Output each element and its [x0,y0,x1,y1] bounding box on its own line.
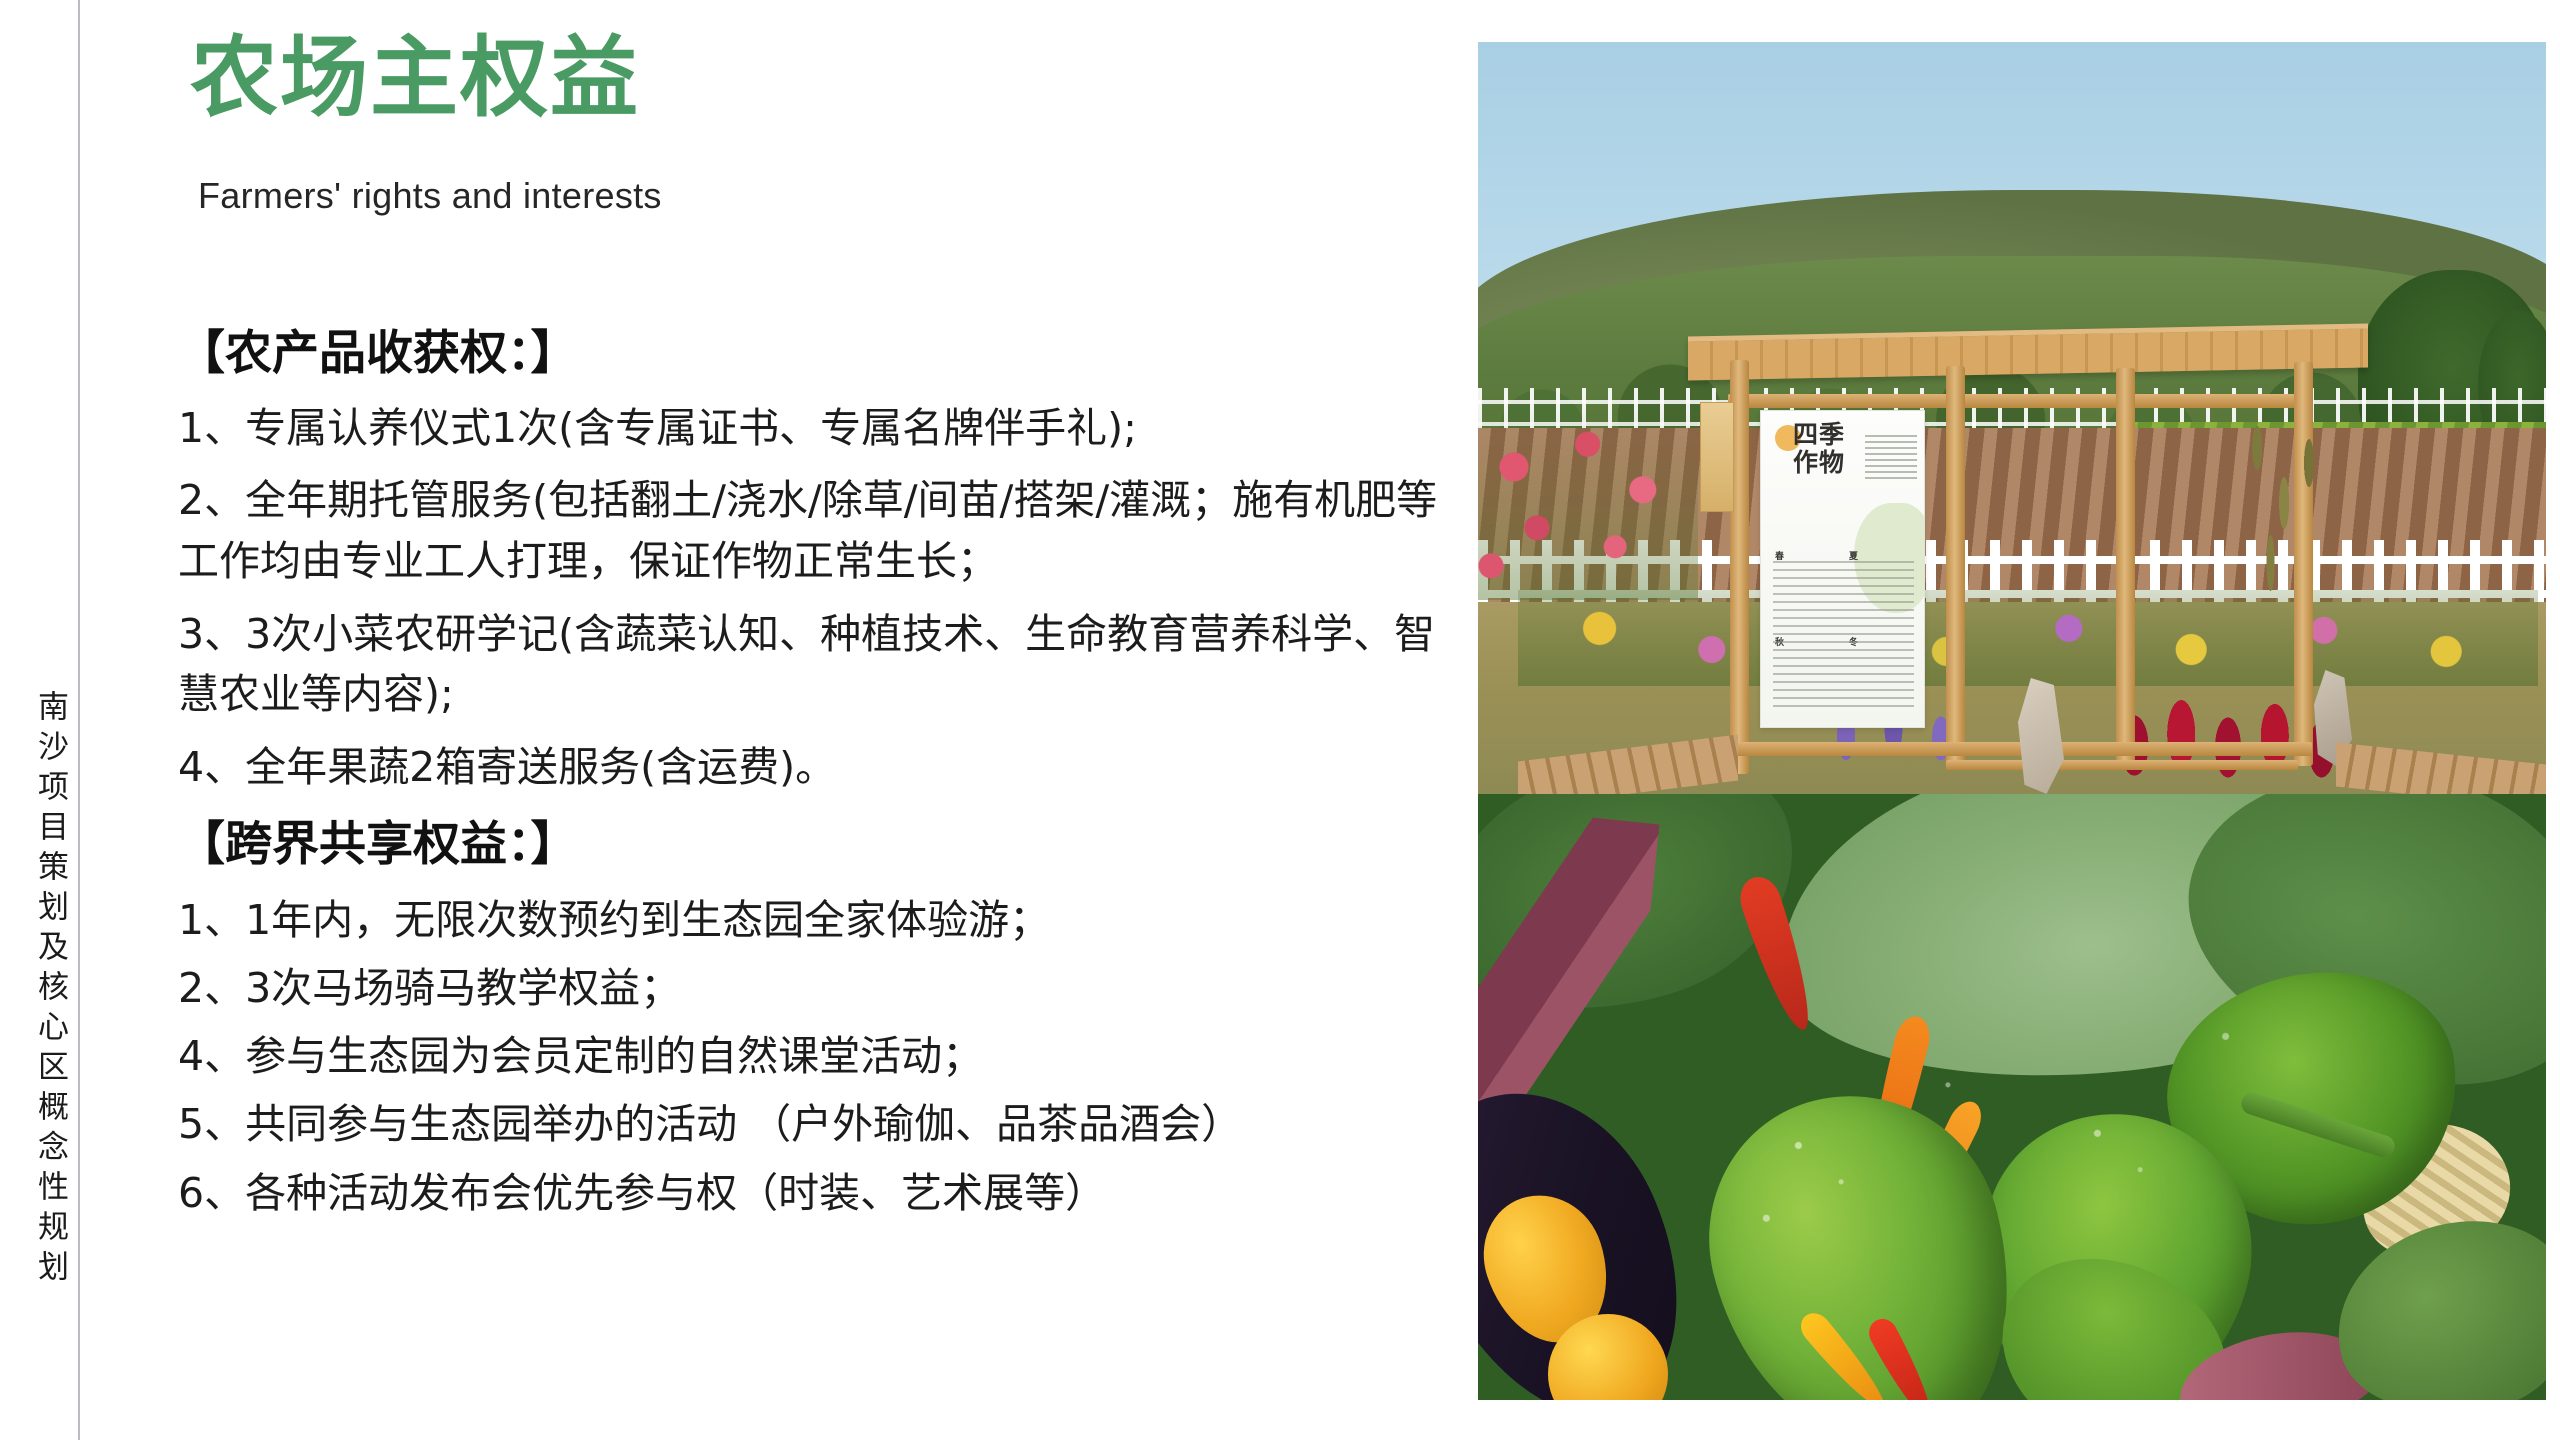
section-heading-harvest-rights: 【农产品收获权：】 [178,325,1438,384]
list-item: 4、全年果蔬2箱寄送服务(含运费)。 [178,737,1438,798]
harvest-rights-list: 1、专属认养仪式1次(含专属证书、专属名牌伴手礼); 2、全年期托管服务(包括翻… [178,398,1438,798]
photo-farm-pergola: 四季作物 春 夏 秋 冬 [1478,42,2546,794]
pergola-post [1946,366,1965,770]
signboard-crop-table [1773,561,1914,711]
list-item: 1、专属认养仪式1次(含专属证书、专属名牌伴手礼); [178,398,1438,459]
left-sidebar-rail: 南沙项目策划及核心区概念性规划 [0,0,79,1440]
list-item: 2、全年期托管服务(包括翻土/浇水/除草/间苗/搭架/灌溉；施有机肥等工作均由专… [178,470,1438,591]
pergola-beam [1946,760,2298,770]
slide-root: 南沙项目策划及核心区概念性规划 农场主权益 Farmers' rights an… [0,0,2560,1440]
sidebar-vertical-label: 南沙项目策划及核心区概念性规划 [14,690,66,1290]
photo-fresh-vegetables [1478,794,2546,1400]
list-item: 1、1年内，无限次数预约到生态园全家体验游； [178,889,1438,951]
signboard-title: 四季作物 [1793,421,1859,477]
page-title: 农场主权益 [190,30,640,127]
signboard-paragraph [1865,435,1917,483]
dried-vine [2238,398,2334,648]
flowerbed-foreground [1518,590,2538,686]
crop-signboard: 四季作物 春 夏 秋 冬 [1760,410,1925,728]
section-heading-shared-rights: 【跨界共享权益：】 [178,816,1438,875]
side-wood-panel [1700,402,1734,512]
list-item: 6、各种活动发布会优先参与权（时装、艺术展等） [178,1162,1438,1224]
pergola-post [2116,368,2135,762]
list-item: 3、3次小菜农研学记(含蔬菜认知、种植技术、生命教育营养科学、智慧农业等内容); [178,604,1438,725]
page-subtitle: Farmers' rights and interests [198,175,662,217]
pergola-beam [1728,394,2312,408]
content-column: 【农产品收获权：】 1、专属认养仪式1次(含专属证书、专属名牌伴手礼); 2、全… [178,325,1438,1230]
shared-rights-list: 1、1年内，无限次数预约到生态园全家体验游； 2、3次马场骑马教学权益； 4、参… [178,889,1438,1225]
sidebar-divider [78,0,80,1440]
list-item: 5、共同参与生态园举办的活动 （户外瑜伽、品茶品酒会） [178,1093,1438,1155]
list-item: 4、参与生态园为会员定制的自然课堂活动； [178,1025,1438,1087]
water-droplets [1478,794,2546,1400]
list-item: 2、3次马场骑马教学权益； [178,957,1438,1019]
flowerbed-left [1478,410,1698,600]
photo-stack: 四季作物 春 夏 秋 冬 [1478,42,2546,1400]
